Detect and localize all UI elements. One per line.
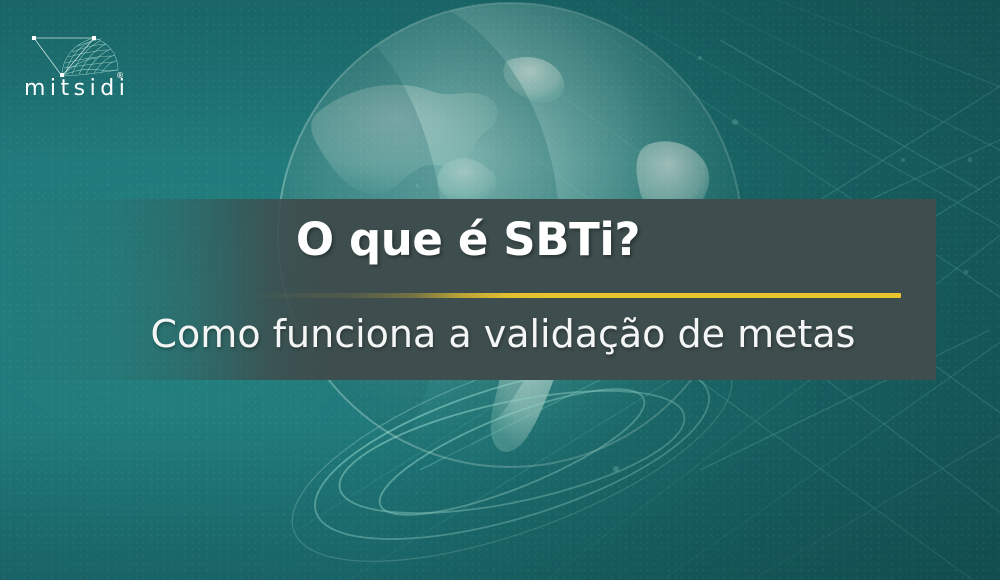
page-subtitle: Como funciona a validação de metas	[0, 313, 1000, 357]
registered-trademark-icon: ®	[116, 72, 124, 80]
accent-divider	[243, 293, 901, 298]
logo-wordmark: mitsidi	[24, 78, 129, 100]
title-slide: mitsidi ® O que é SBTi? Como funciona a …	[0, 0, 1000, 580]
page-title: O que é SBTi?	[0, 215, 936, 265]
mitsidi-logo: mitsidi ®	[18, 26, 136, 112]
